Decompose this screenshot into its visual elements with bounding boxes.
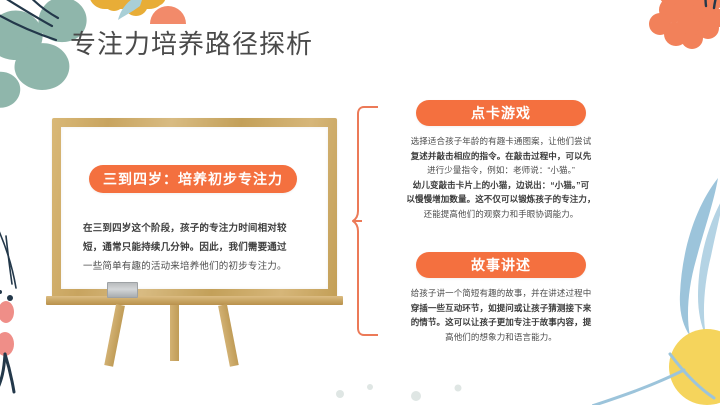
right-blue-leaf-decoration	[656, 176, 720, 346]
blackboard-heading-pill: 三到四岁：培养初步专注力	[89, 165, 297, 193]
teal-sliver-decoration	[112, 0, 148, 22]
section-card-storytelling: 故事讲述 给孩子讲一个简短有趣的故事，并在讲述过程中 穿插一些互动环节，如提问或…	[388, 252, 614, 344]
right-content-column: 点卡游戏 选择适合孩子年龄的有趣卡通图案，让他们尝试 复述并敲击相应的指令。在敲…	[388, 100, 614, 231]
section-line: 高他们的想象力和语言能力。	[388, 330, 614, 345]
easel-leg-middle	[170, 305, 179, 361]
section-line: 选择适合孩子年龄的有趣卡通图案，让他们尝试	[388, 134, 614, 149]
easel-leg-left	[104, 304, 125, 367]
page-title: 专注力培养路径探析	[70, 24, 313, 61]
eraser-icon	[107, 282, 138, 298]
section-body-point-game: 选择适合孩子年龄的有趣卡通图案，让他们尝试 复述并敲击相应的指令。在敲击过程中，…	[388, 134, 614, 221]
blackboard-frame: 三到四岁：培养初步专注力 在三到四岁这个阶段，孩子的专注力时间相对较 短，通常只…	[52, 118, 337, 298]
left-stems-decoration	[0, 214, 50, 314]
curly-bracket-icon	[352, 105, 380, 337]
chalk-tray	[46, 296, 343, 305]
section-line: 的情节。这可以让孩子更加专注于故事内容，提	[388, 315, 614, 330]
section-line: 以慢慢增加数量。这不仅可以锻炼孩子的专注力，	[388, 192, 614, 207]
blackboard-surface: 三到四岁：培养初步专注力 在三到四岁这个阶段，孩子的专注力时间相对较 短，通常只…	[61, 127, 328, 289]
section-pill-storytelling: 故事讲述	[416, 252, 586, 278]
blackboard-easel: 三到四岁：培养初步专注力 在三到四岁这个阶段，孩子的专注力时间相对较 短，通常只…	[52, 118, 352, 363]
blackboard-body-line-2: 短，通常只能持续几分钟。因此，我们需要通过	[83, 242, 287, 253]
bottom-right-circle-decoration	[662, 322, 720, 405]
slide-canvas: 专注力培养路径探析 三到四岁：培养初步专注力 在三到四岁这个阶段，孩子的专注力时…	[0, 0, 720, 405]
section-line: 幼儿变敲击卡片上的小猫，边说出：“小猫。”可	[388, 178, 614, 193]
blackboard-body-line-3: 一些简单有趣的活动来培养他们的初步专注力。	[83, 261, 287, 272]
top-right-flower-decoration	[630, 0, 720, 68]
section-body-storytelling: 给孩子讲一个简短有趣的故事，并在讲述过程中 穿插一些互动环节，如提问或让孩子猜测…	[388, 286, 614, 344]
bottom-scatter-decoration	[330, 378, 490, 405]
blackboard-body-line-1: 在三到四岁这个阶段，孩子的专注力时间相对较	[83, 223, 287, 234]
section-line: 进行少量指令，例如：老师说：“小猫。”	[388, 163, 614, 178]
section-line: 穿插一些互动环节，如提问或让孩子猜测接下来	[388, 301, 614, 316]
blackboard-body-text: 在三到四岁这个阶段，孩子的专注力时间相对较 短，通常只能持续几分钟。因此，我们需…	[83, 219, 311, 276]
easel-leg-right	[218, 304, 239, 367]
section-pill-point-game: 点卡游戏	[416, 100, 586, 126]
section-line: 复述并敲击相应的指令。在敲击过程中，可以先	[388, 149, 614, 164]
section-card-point-game: 点卡游戏 选择适合孩子年龄的有趣卡通图案，让他们尝试 复述并敲击相应的指令。在敲…	[388, 100, 614, 221]
bottom-right-blue-strokes-decoration	[592, 352, 720, 405]
section-line: 还能提高他们的观察力和手眼协调能力。	[388, 207, 614, 222]
section-line: 给孩子讲一个简短有趣的故事，并在讲述过程中	[388, 286, 614, 301]
